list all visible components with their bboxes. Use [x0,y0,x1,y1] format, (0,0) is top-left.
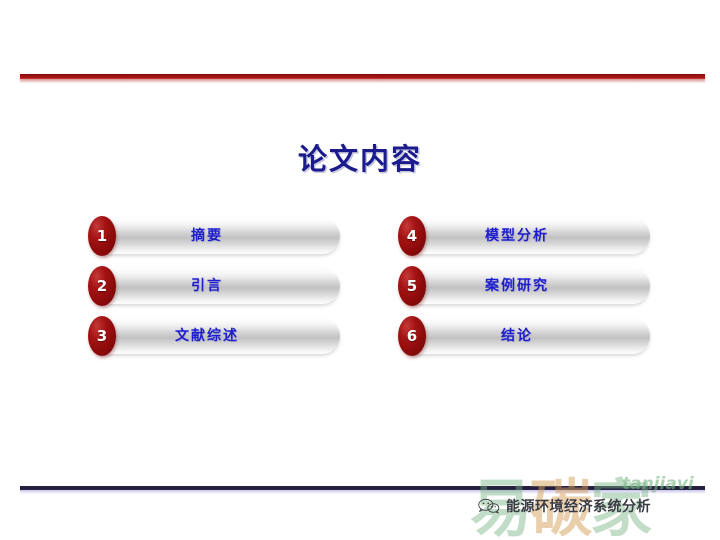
page-title: 论文内容 [0,136,720,178]
contents-item-6[interactable]: 结论 6 [398,318,658,354]
item-number-badge: 1 [88,216,116,256]
item-number: 3 [88,316,116,356]
item-number-badge: 6 [398,316,426,356]
item-label: 摘要 [88,218,326,254]
presentation-slide: 论文内容 摘要 1 引言 2 文献综述 3 模型分 [0,0,720,540]
contents-item-1[interactable]: 摘要 1 [88,218,348,254]
contents-column-left: 摘要 1 引言 2 文献综述 3 [88,218,348,368]
contents-item-5[interactable]: 案例研究 5 [398,268,658,304]
item-number: 6 [398,316,426,356]
footer-label: 能源环境经济系统分析 [506,496,651,516]
item-number: 2 [88,266,116,306]
item-number: 1 [88,216,116,256]
item-label: 结论 [398,318,636,354]
contents-item-3[interactable]: 文献综述 3 [88,318,348,354]
contents-item-2[interactable]: 引言 2 [88,268,348,304]
top-divider-glow [20,79,705,83]
footer: 能源环境经济系统分析 [478,496,651,516]
bottom-divider-glow [20,490,705,494]
contents-item-4[interactable]: 模型分析 4 [398,218,658,254]
item-label: 文献综述 [88,318,326,354]
contents-column-right: 模型分析 4 案例研究 5 结论 6 [398,218,658,368]
item-label: 案例研究 [398,268,636,304]
item-number: 4 [398,216,426,256]
item-label: 模型分析 [398,218,636,254]
item-number-badge: 3 [88,316,116,356]
wechat-icon [478,498,500,514]
item-number-badge: 5 [398,266,426,306]
item-number-badge: 4 [398,216,426,256]
item-number: 5 [398,266,426,306]
item-label: 引言 [88,268,326,304]
item-number-badge: 2 [88,266,116,306]
